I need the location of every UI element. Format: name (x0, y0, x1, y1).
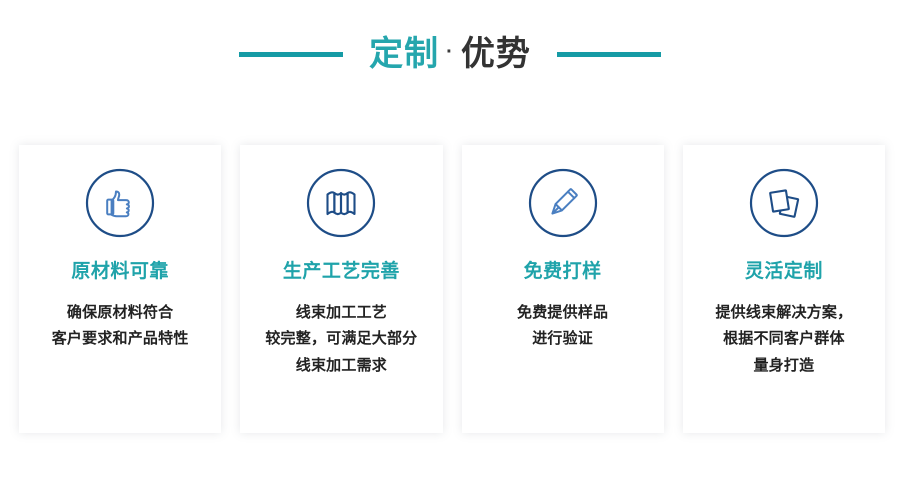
card-description: 提供线束解决方案， 根据不同客户群体 量身打造 (705, 300, 862, 379)
title-rule-left (239, 52, 343, 57)
card-description-line: 确保原材料符合 (52, 300, 189, 326)
pencil-icon (527, 167, 599, 239)
advantage-card[interactable]: 生产工艺完善 线束加工工艺 较完整，可满足大部分 线束加工需求 (240, 145, 442, 433)
card-description-line: 较完整，可满足大部分 (265, 326, 417, 352)
advantage-card[interactable]: 原材料可靠 确保原材料符合 客户要求和产品特性 (19, 145, 221, 433)
card-description: 确保原材料符合 客户要求和产品特性 (42, 300, 199, 353)
card-description-line: 免费提供样品 (517, 300, 608, 326)
page-title: 定制 · 优势 (369, 37, 531, 71)
card-heading: 免费打样 (524, 261, 602, 284)
title-secondary-text: 优势 (461, 37, 531, 71)
title-rule-right (557, 52, 661, 57)
folded-map-icon (305, 167, 377, 239)
advantage-cards-row: 原材料可靠 确保原材料符合 客户要求和产品特性 生产工艺完善 线束加工工艺 较完… (19, 145, 885, 433)
card-description-line: 根据不同客户群体 (715, 326, 852, 352)
card-description: 免费提供样品 进行验证 (507, 300, 618, 353)
card-description-line: 量身打造 (715, 353, 852, 379)
card-heading: 生产工艺完善 (283, 261, 400, 284)
card-description-line: 客户要求和产品特性 (52, 326, 189, 352)
stacked-cards-icon (748, 167, 820, 239)
card-description-line: 线束加工需求 (265, 353, 417, 379)
title-primary-text: 定制 (369, 37, 439, 71)
card-heading: 原材料可靠 (71, 261, 169, 284)
card-description-line: 进行验证 (517, 326, 608, 352)
card-description-line: 提供线束解决方案， (715, 300, 852, 326)
card-description-line: 线束加工工艺 (265, 300, 417, 326)
thumbs-up-icon (84, 167, 156, 239)
section-title: 定制 · 优势 (0, 24, 900, 84)
title-separator-dot: · (446, 42, 454, 62)
advantage-card[interactable]: 免费打样 免费提供样品 进行验证 (462, 145, 664, 433)
card-description: 线束加工工艺 较完整，可满足大部分 线束加工需求 (255, 300, 427, 379)
advantage-card[interactable]: 灵活定制 提供线束解决方案， 根据不同客户群体 量身打造 (683, 145, 885, 433)
card-heading: 灵活定制 (745, 261, 823, 284)
